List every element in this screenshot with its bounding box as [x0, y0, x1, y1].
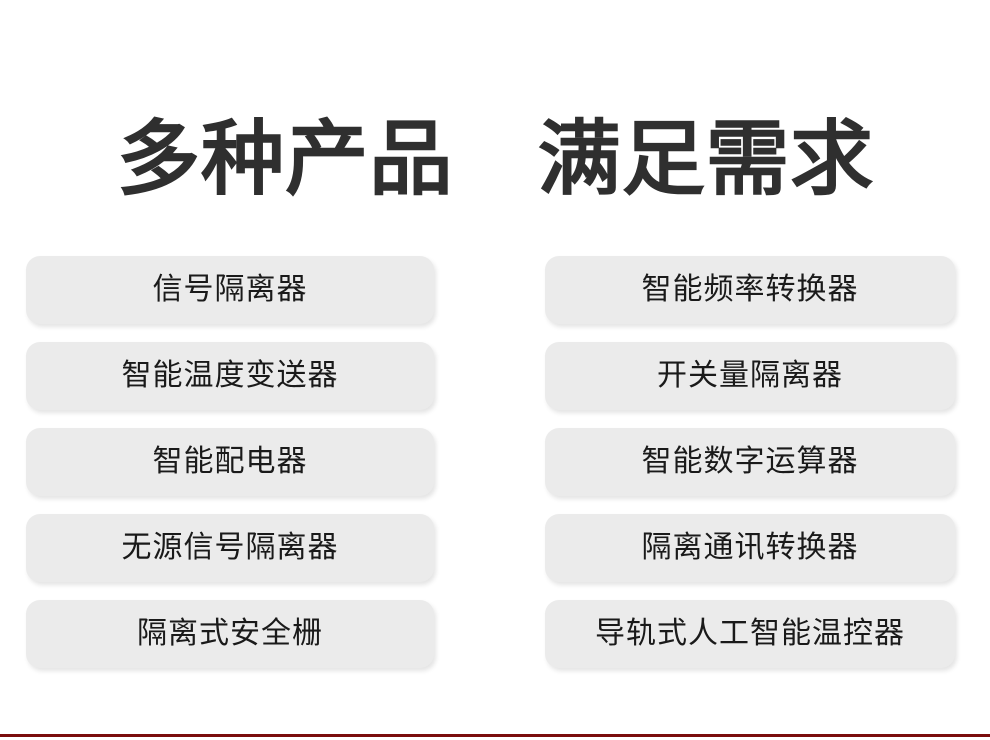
product-pill-label: 智能频率转换器	[642, 275, 859, 305]
page-title: 多种产品 满足需求	[116, 119, 873, 201]
product-pill-label: 隔离通讯转换器	[642, 533, 859, 563]
product-pill-label: 智能数字运算器	[642, 447, 859, 477]
product-pill-grid: 信号隔离器 智能温度变送器 智能配电器 无源信号隔离器 隔离式安全栅 智能频率转…	[26, 256, 955, 668]
product-pill-label: 开关量隔离器	[657, 361, 843, 391]
product-pill-label: 无源信号隔离器	[122, 533, 339, 563]
product-overview-page: 多种产品 满足需求 信号隔离器 智能温度变送器 智能配电器 无源信号隔离器 隔离…	[0, 0, 990, 740]
product-pill[interactable]: 信号隔离器	[26, 256, 434, 324]
product-column-right: 智能频率转换器 开关量隔离器 智能数字运算器 隔离通讯转换器 导轨式人工智能温控…	[545, 256, 955, 668]
product-pill[interactable]: 智能数字运算器	[545, 428, 955, 496]
product-pill[interactable]: 无源信号隔离器	[26, 514, 434, 582]
product-pill[interactable]: 隔离式安全栅	[26, 600, 434, 668]
product-pill[interactable]: 开关量隔离器	[545, 342, 955, 410]
product-pill[interactable]: 导轨式人工智能温控器	[545, 600, 955, 668]
product-pill-label: 智能配电器	[153, 447, 308, 477]
product-pill[interactable]: 隔离通讯转换器	[545, 514, 955, 582]
product-pill[interactable]: 智能温度变送器	[26, 342, 434, 410]
page-title-block: 多种产品 满足需求	[0, 64, 990, 256]
bottom-divider	[0, 734, 990, 737]
product-pill-label: 智能温度变送器	[122, 361, 339, 391]
product-pill[interactable]: 智能配电器	[26, 428, 434, 496]
product-pill-label: 信号隔离器	[153, 275, 308, 305]
product-pill[interactable]: 智能频率转换器	[545, 256, 955, 324]
product-pill-label: 导轨式人工智能温控器	[595, 619, 905, 649]
product-column-left: 信号隔离器 智能温度变送器 智能配电器 无源信号隔离器 隔离式安全栅	[26, 256, 434, 668]
product-pill-label: 隔离式安全栅	[137, 619, 323, 649]
